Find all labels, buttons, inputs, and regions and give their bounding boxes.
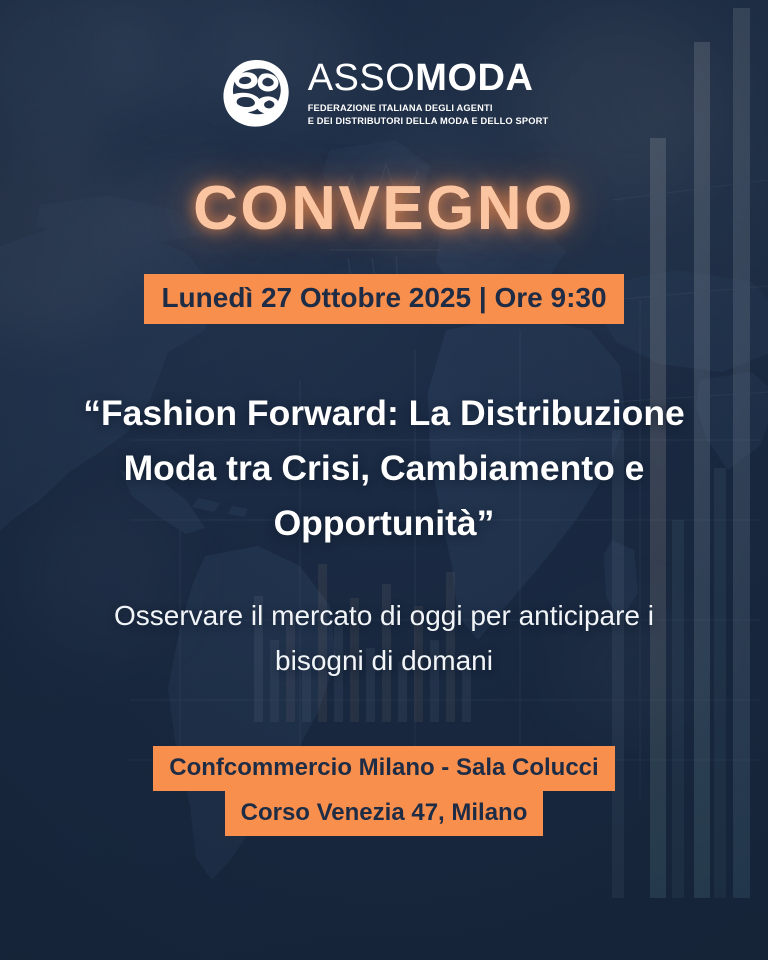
assomoda-wordmark: ASSOMODA FEDERAZIONE ITALIANA DEGLI AGEN… — [308, 59, 549, 128]
venue-address-banner: Corso Venezia 47, Milano — [225, 791, 544, 836]
event-subtitle-line-1: Osservare il mercato di oggi per anticip… — [64, 593, 704, 638]
event-subtitle-line-2: bisogni di domani — [64, 638, 704, 683]
event-kicker: CONVEGNO — [193, 178, 575, 240]
assomoda-name-light: ASSO — [308, 57, 416, 99]
poster-content: ASSOMODA FEDERAZIONE ITALIANA DEGLI AGEN… — [0, 0, 768, 960]
event-date-banner: Lunedì 27 Ottobre 2025 | Ore 9:30 — [144, 274, 623, 324]
event-poster: ASSOMODA FEDERAZIONE ITALIANA DEGLI AGEN… — [0, 0, 768, 960]
assomoda-globe-mark-icon — [220, 56, 294, 130]
event-title-line-1: “Fashion Forward: La Distribuzione — [64, 386, 704, 441]
event-title-line-3: Opportunità” — [64, 496, 704, 551]
event-subtitle: Osservare il mercato di oggi per anticip… — [64, 593, 704, 684]
venue-name-banner: Confcommercio Milano - Sala Colucci — [153, 746, 614, 791]
event-title-line-2: Moda tra Crisi, Cambiamento e — [64, 441, 704, 496]
assomoda-name: ASSOMODA — [308, 59, 549, 98]
assomoda-logo: ASSOMODA FEDERAZIONE ITALIANA DEGLI AGEN… — [220, 56, 549, 130]
assomoda-tagline-line-2: E DEI DISTRIBUTORI DELLA MODA E DELLO SP… — [308, 115, 549, 128]
assomoda-tagline-line-1: FEDERAZIONE ITALIANA DEGLI AGENTI — [308, 102, 549, 115]
assomoda-tagline: FEDERAZIONE ITALIANA DEGLI AGENTI E DEI … — [308, 102, 549, 127]
assomoda-name-bold: MODA — [415, 57, 533, 99]
venue-block: Confcommercio Milano - Sala Colucci Cors… — [153, 746, 614, 836]
event-title: “Fashion Forward: La Distribuzione Moda … — [64, 386, 704, 551]
